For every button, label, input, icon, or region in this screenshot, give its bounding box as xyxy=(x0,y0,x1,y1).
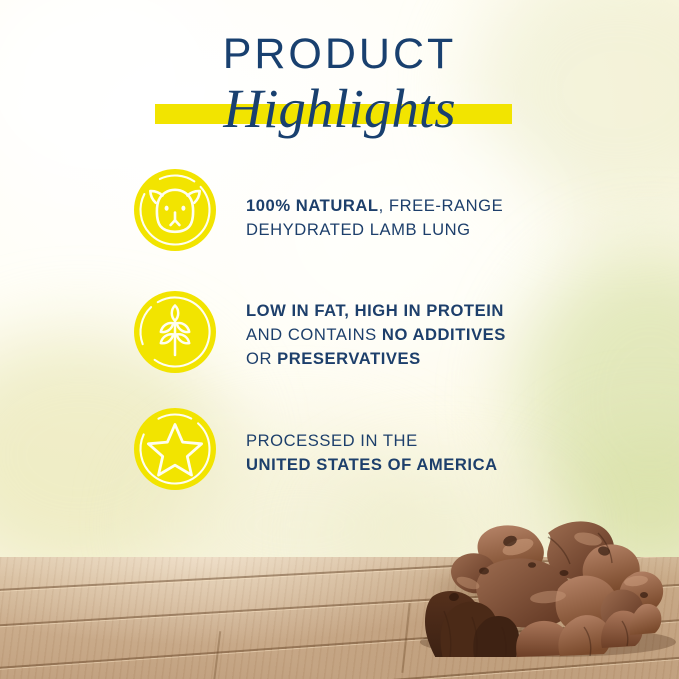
highlight-text-natural: 100% NATURAL, FREE-RANGEDEHYDRATED LAMB … xyxy=(246,167,503,242)
title-line-highlights: Highlights xyxy=(0,78,679,140)
star-badge-icon xyxy=(132,406,218,492)
page-title: PRODUCT Highlights xyxy=(0,28,679,140)
wheat-grain-icon xyxy=(132,289,218,375)
highlight-line: PROCESSED IN THE xyxy=(246,429,498,453)
highlight-line: UNITED STATES OF AMERICA xyxy=(246,453,498,477)
highlight-line: 100% NATURAL, FREE-RANGE xyxy=(246,194,503,218)
highlight-line: AND CONTAINS NO ADDITIVES xyxy=(246,323,506,347)
title-line-product: PRODUCT xyxy=(0,28,679,80)
highlight-line: OR PRESERVATIVES xyxy=(246,347,506,371)
lamb-lung-product-pile xyxy=(398,477,679,657)
title-line-highlights-wrap: Highlights xyxy=(0,78,679,140)
highlight-line: LOW IN FAT, HIGH IN PROTEIN xyxy=(246,299,506,323)
highlight-text-nutrition: LOW IN FAT, HIGH IN PROTEINAND CONTAINS … xyxy=(246,289,506,371)
lamb-head-icon xyxy=(132,167,218,253)
highlight-text-origin: PROCESSED IN THEUNITED STATES OF AMERICA xyxy=(246,406,498,477)
product-highlights-graphic: PRODUCT Highlights xyxy=(0,0,679,679)
highlight-line: DEHYDRATED LAMB LUNG xyxy=(246,218,503,242)
